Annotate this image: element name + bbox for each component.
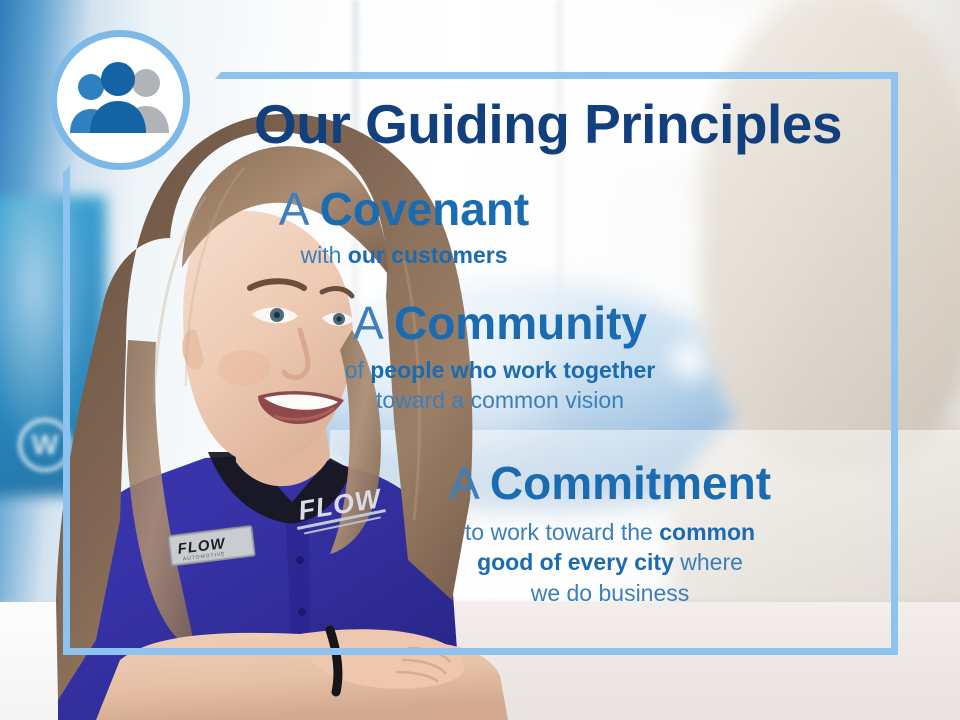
principle-title: A Commitment [330, 460, 890, 508]
page-title: Our Guiding Principles [218, 97, 878, 152]
principle-subtext: of people who work togethertoward a comm… [180, 355, 820, 416]
principle-subtext: to work toward the commongood of every c… [330, 517, 890, 608]
text-layer: Our Guiding Principles A Covenant with o… [0, 0, 960, 720]
principle-covenant: A Covenant with our customers [120, 186, 688, 270]
principle-title: A Community [180, 300, 820, 348]
principle-keyword: Covenant [320, 183, 530, 235]
principle-title: A Covenant [120, 186, 688, 234]
principle-keyword: Community [394, 297, 647, 349]
principle-article: A [449, 457, 477, 509]
principle-keyword: Commitment [490, 457, 771, 509]
principle-article: A [353, 297, 381, 349]
guiding-principles-graphic: FLOW FLOW AUTOMOTIVE [0, 0, 960, 720]
principle-commitment: A Commitment to work toward the commongo… [330, 460, 890, 608]
principle-article: A [279, 183, 307, 235]
principle-subtext: with our customers [120, 240, 688, 270]
principle-community: A Community of people who work togethert… [180, 300, 820, 416]
